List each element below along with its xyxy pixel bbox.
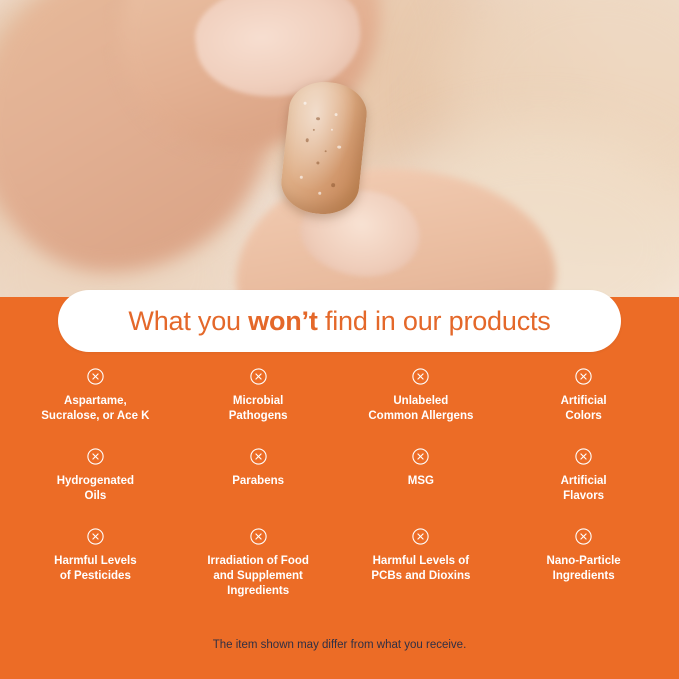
excluded-ingredients-grid: Aspartame, Sucralose, or Ace K Microbial… <box>14 368 665 608</box>
x-circle-icon <box>575 368 592 385</box>
list-item-label: Harmful Levels of PCBs and Dioxins <box>367 554 474 584</box>
list-item: Harmful Levels of PCBs and Dioxins <box>340 528 503 608</box>
x-circle-icon <box>87 528 104 545</box>
list-item-label: Microbial Pathogens <box>225 394 292 424</box>
list-item-label: Nano-Particle Ingredients <box>543 554 625 584</box>
x-circle-icon <box>412 368 429 385</box>
grid-row: Harmful Levels of Pesticides Irradiation… <box>14 528 665 608</box>
x-circle-icon <box>250 528 267 545</box>
list-item: Aspartame, Sucralose, or Ace K <box>14 368 177 448</box>
list-item-label: Artificial Flavors <box>557 474 611 504</box>
list-item: Microbial Pathogens <box>177 368 340 448</box>
list-item: MSG <box>340 448 503 528</box>
list-item-label: MSG <box>404 474 438 489</box>
list-item-label: Aspartame, Sucralose, or Ace K <box>37 394 153 424</box>
page-title: What you won’t find in our products <box>128 306 550 337</box>
supplement-tablet <box>278 78 369 217</box>
headline-suffix: find in our products <box>318 306 551 336</box>
headline-prefix: What you <box>128 306 248 336</box>
list-item: Artificial Flavors <box>502 448 665 528</box>
x-circle-icon <box>87 368 104 385</box>
list-item: Artificial Colors <box>502 368 665 448</box>
list-item-label: Harmful Levels of Pesticides <box>50 554 140 584</box>
x-circle-icon <box>250 448 267 465</box>
product-photo <box>0 0 679 297</box>
x-circle-icon <box>575 448 592 465</box>
list-item-label: Unlabeled Common Allergens <box>364 394 477 424</box>
list-item: Parabens <box>177 448 340 528</box>
list-item-label: Parabens <box>228 474 288 489</box>
list-item: Harmful Levels of Pesticides <box>14 528 177 608</box>
list-item: Unlabeled Common Allergens <box>340 368 503 448</box>
x-circle-icon <box>412 528 429 545</box>
disclaimer-text: The item shown may differ from what you … <box>0 639 679 651</box>
grid-row: Aspartame, Sucralose, or Ace K Microbial… <box>14 368 665 448</box>
headline-pill: What you won’t find in our products <box>58 290 621 352</box>
grid-row: Hydrogenated Oils Parabens MSG Artificia… <box>14 448 665 528</box>
list-item: Irradiation of Food and Supplement Ingre… <box>177 528 340 608</box>
list-item: Nano-Particle Ingredients <box>502 528 665 608</box>
x-circle-icon <box>575 528 592 545</box>
list-item: Hydrogenated Oils <box>14 448 177 528</box>
product-info-graphic: What you won’t find in our products Aspa… <box>0 0 679 679</box>
list-item-label: Irradiation of Food and Supplement Ingre… <box>203 554 313 599</box>
x-circle-icon <box>87 448 104 465</box>
list-item-label: Artificial Colors <box>557 394 611 424</box>
list-item-label: Hydrogenated Oils <box>53 474 138 504</box>
headline-emphasis: won’t <box>248 306 317 336</box>
x-circle-icon <box>412 448 429 465</box>
x-circle-icon <box>250 368 267 385</box>
